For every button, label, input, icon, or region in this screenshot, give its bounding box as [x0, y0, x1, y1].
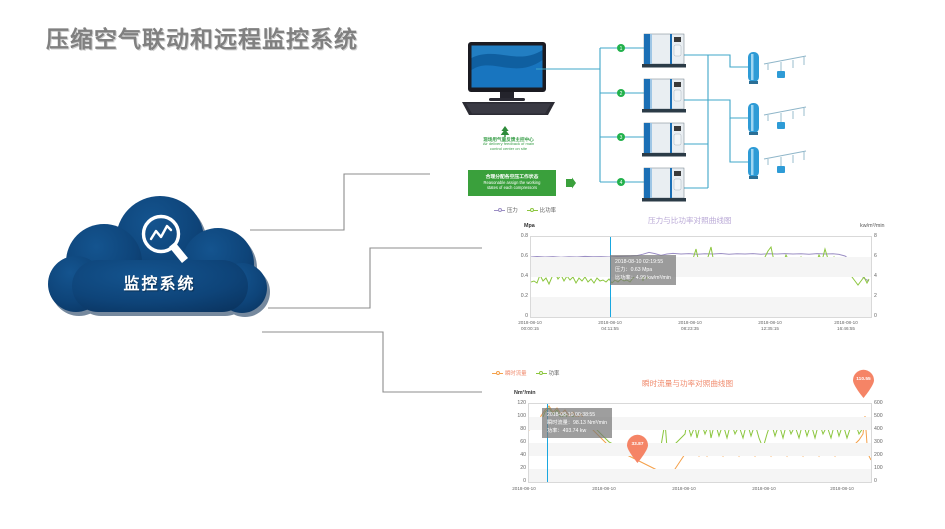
legend-label-flow: 瞬时流量 — [505, 369, 527, 377]
legend-item-pressure[interactable]: 压力 — [494, 206, 518, 214]
chart1-xtick-3-time: 12:35:15 — [740, 326, 800, 332]
legend-item-specific-power[interactable]: 比功率 — [527, 206, 556, 214]
chart2-y2tick-2: 400 — [874, 426, 894, 432]
svg-text:1: 1 — [620, 46, 623, 52]
chart2-band-2 — [529, 443, 871, 456]
legend-marker-flow — [492, 370, 503, 376]
chart2-legend: 瞬时流量 功率 — [492, 369, 559, 377]
legend-item-power[interactable]: 功率 — [536, 369, 560, 377]
chart1-tooltip-timestamp: 2018-08-10 02:19:55 — [615, 258, 671, 266]
chart1-ytick-0: 0.8 — [510, 233, 528, 239]
chart1-xtick-1: 2018-08-10 04:11:55 — [580, 320, 640, 331]
piping-network: 1 2 3 4 — [432, 22, 945, 207]
chart2-tooltip-line2: 功率：493.74 kw — [547, 427, 607, 435]
chart1-band-2 — [531, 297, 871, 317]
chart1-ytick-1: 0.6 — [510, 253, 528, 259]
legend-marker-power — [536, 370, 547, 376]
chart1-legend: 压力 比功率 — [494, 206, 556, 214]
chart2-marker-max-label-wrap: 110.55 — [853, 371, 874, 398]
chart2-y2tick-6: 0 — [874, 478, 894, 484]
chart2-y2tick-4: 200 — [874, 452, 894, 458]
chart1-y2tick-1: 6 — [874, 253, 888, 259]
chart2-marker-max-label: 110.55 — [853, 377, 874, 382]
chart2-xtick-0: 2018-08-10 — [494, 486, 554, 492]
legend-label-pressure: 压力 — [507, 206, 518, 214]
chart2-ytick-1: 100 — [504, 413, 526, 419]
chart2-y2tick-3: 300 — [874, 439, 894, 445]
chart2-ytick-3: 60 — [504, 439, 526, 445]
cloud-label: 监控系统 — [32, 270, 287, 294]
chart2-ytick-0: 120 — [504, 400, 526, 406]
chart1-xtick-2: 2018-08-10 08:23:35 — [660, 320, 720, 331]
chart2-xtick-1: 2018-08-10 — [574, 486, 634, 492]
chart2-y2tick-1: 500 — [874, 413, 894, 419]
chart2-band-3 — [529, 469, 871, 482]
chart2-xtick-2-date: 2018-08-10 — [654, 486, 714, 492]
chart2-xtick-0-date: 2018-08-10 — [494, 486, 554, 492]
legend-item-flow[interactable]: 瞬时流量 — [492, 369, 527, 377]
chart1-xtick-0-time: 00:00:15 — [500, 326, 560, 332]
chart1-ytick-4: 0 — [510, 313, 528, 319]
chart1-plot-area[interactable] — [530, 236, 872, 318]
chart1-y2label: kw/m³/min — [860, 223, 885, 229]
chart1-xtick-1-time: 04:11:55 — [580, 326, 640, 332]
chart1-xtick-4-time: 16:46:55 — [816, 326, 876, 332]
chart1-xtick-4: 2018-08-10 16:46:55 — [816, 320, 876, 331]
legend-label-power: 功率 — [549, 369, 560, 377]
chart1-tooltip-line2: 比功率：4.99 kw/m³/min — [615, 274, 671, 282]
chart1-ylabel: Mpa — [524, 223, 535, 229]
legend-marker-pressure — [494, 207, 505, 213]
chart2-xtick-4: 2018-08-10 — [812, 486, 872, 492]
chart2-xtick-1-date: 2018-08-10 — [574, 486, 634, 492]
chart2-ytick-4: 40 — [504, 452, 526, 458]
chart2-marker-min-label-wrap: 33.87 — [627, 436, 648, 463]
chart2-ytick-6: 0 — [504, 478, 526, 484]
legend-label-specific-power: 比功率 — [540, 206, 556, 214]
chart1-tooltip: 2018-08-10 02:19:55 压力：0.63 Mpa 比功率：4.99… — [610, 255, 676, 285]
chart1-xtick-2-time: 08:23:35 — [660, 326, 720, 332]
chart1-band-1 — [531, 257, 871, 277]
chart2-y2tick-5: 100 — [874, 465, 894, 471]
chart2-xtick-3-date: 2018-08-10 — [734, 486, 794, 492]
chart1-ytick-2: 0.4 — [510, 273, 528, 279]
chart1-title: 压力与比功率对照曲线图 — [648, 215, 732, 226]
chart2-marker-min-label: 33.87 — [627, 442, 648, 447]
chart2-xtick-4-date: 2018-08-10 — [812, 486, 872, 492]
chart1-xtick-3: 2018-08-10 12:35:15 — [740, 320, 800, 331]
system-topology-diagram: 现场用气量反馈主控中心 Air delivery feedback of mai… — [432, 22, 945, 207]
chart1-y2tick-3: 2 — [874, 293, 888, 299]
legend-marker-specific-power — [527, 207, 538, 213]
chart1-tooltip-line1: 压力：0.63 Mpa — [615, 266, 671, 274]
chart2-ylabel: Nm³/min — [514, 390, 536, 396]
chart2-tooltip: 2018-08-10 00:38:55 瞬时流量：98.13 Nm³/min 功… — [542, 408, 612, 438]
monitoring-cloud[interactable]: 监控系统 — [32, 196, 287, 321]
svg-text:4: 4 — [620, 180, 623, 186]
chart2-tooltip-line1: 瞬时流量：98.13 Nm³/min — [547, 419, 607, 427]
chart2-tooltip-timestamp: 2018-08-10 00:38:55 — [547, 411, 607, 419]
chart2-y2tick-0: 600 — [874, 400, 894, 406]
svg-text:3: 3 — [620, 135, 623, 141]
chart2-xtick-3: 2018-08-10 — [734, 486, 794, 492]
chart1-y2tick-4: 0 — [874, 313, 888, 319]
magnifier-chart-icon — [138, 212, 192, 270]
chart2-ytick-2: 80 — [504, 426, 526, 432]
chart1-ytick-3: 0.2 — [510, 293, 528, 299]
svg-text:2: 2 — [620, 91, 623, 97]
chart2-title: 瞬时流量与功率对照曲线图 — [642, 378, 733, 389]
chart2-ytick-5: 20 — [504, 465, 526, 471]
chart-flow-vs-power: 瞬时流量 功率 瞬时流量与功率对照曲线图 Nm³/min 120 100 80 … — [482, 368, 945, 529]
slide-canvas: 压缩空气联动和远程监控系统 — [0, 0, 945, 529]
chart-pressure-vs-specific-power: 压力 比功率 压力与比功率对照曲线图 Mpa kw/m³/min 0.8 0.6… — [482, 203, 945, 333]
chart1-y2tick-2: 4 — [874, 273, 888, 279]
chart1-y2tick-0: 8 — [874, 233, 888, 239]
chart2-xtick-2: 2018-08-10 — [654, 486, 714, 492]
chart1-xtick-0: 2018-08-10 00:00:15 — [500, 320, 560, 331]
